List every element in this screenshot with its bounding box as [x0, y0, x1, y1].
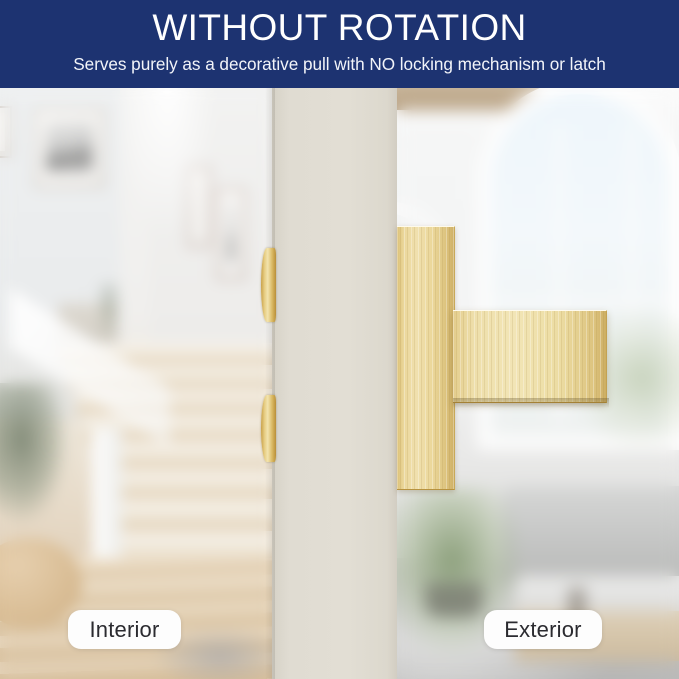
- banner-title: WITHOUT ROTATION: [152, 7, 526, 49]
- label-interior: Interior: [68, 610, 181, 649]
- label-interior-text: Interior: [89, 617, 159, 643]
- banner-subtitle: Serves purely as a decorative pull with …: [73, 52, 605, 76]
- interior-door-hardware-upper: [261, 248, 276, 322]
- label-exterior: Exterior: [484, 610, 602, 649]
- interior-door-hardware-lower: [261, 395, 276, 462]
- door-edge-shadow: [265, 88, 275, 679]
- door-edge-panel: [272, 88, 397, 679]
- interior-scene: [0, 88, 275, 679]
- scene-area: [0, 88, 679, 679]
- exterior-scene: [397, 88, 679, 679]
- header-banner: WITHOUT ROTATION Serves purely as a deco…: [0, 0, 679, 88]
- label-exterior-text: Exterior: [504, 617, 581, 643]
- interior-blur-overlay: [0, 88, 275, 679]
- exterior-blur-overlay: [397, 88, 679, 679]
- product-comparison-image: WITHOUT ROTATION Serves purely as a deco…: [0, 0, 679, 679]
